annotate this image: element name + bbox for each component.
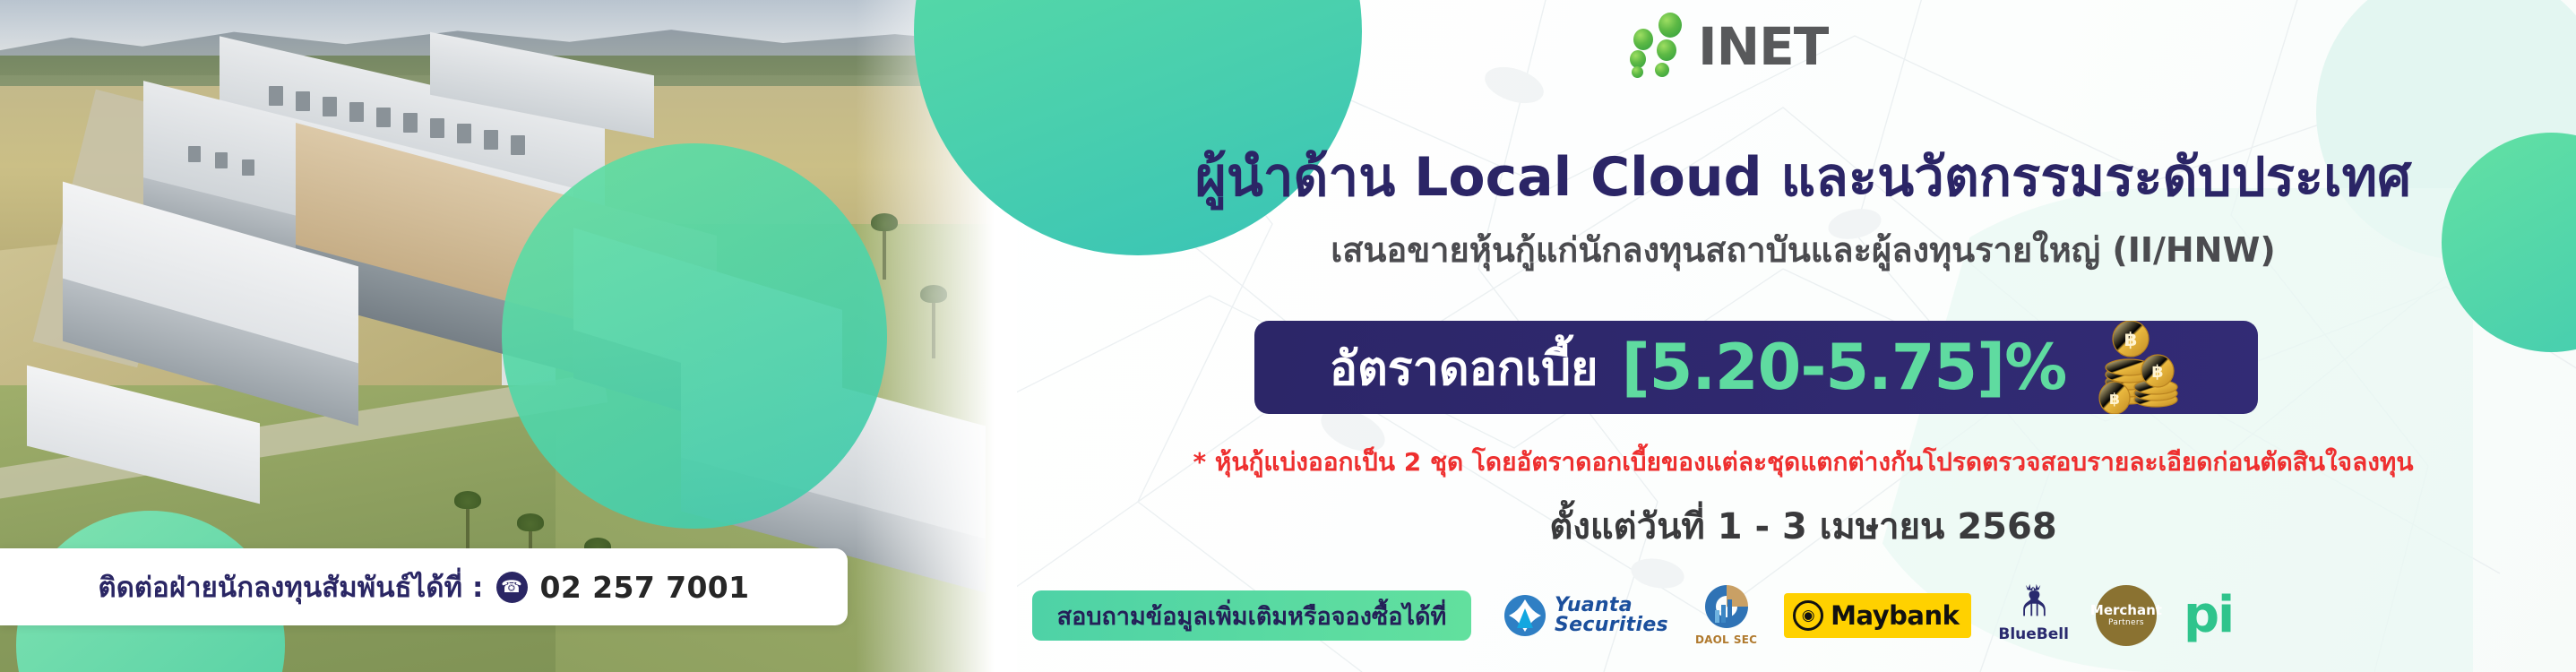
disclaimer-note: * หุ้นกู้แบ่งออกเป็น 2 ชุด โดยอัตราดอกเบ… [1030,443,2576,482]
contact-phone-number: 02 257 7001 [540,570,750,605]
yuanta-star-icon [1503,594,1546,637]
headline: ผู้นำด้าน Local Cloud และนวัตกรรมระดับปร… [1030,134,2576,220]
merchant-line2: Partners [2108,618,2144,627]
interest-rate-box: อัตราดอกเบี้ย [5.20-5.75]% [1254,321,2258,414]
inet-dots-logo-icon [1626,13,1693,72]
inquiry-cta-button[interactable]: สอบถามข้อมูลเพิ่มเติมหรือจองซื้อได้ที่ [1032,590,1471,641]
maybank-tiger-icon: ◉ [1793,600,1823,631]
yuanta-line1: Yuanta [1555,596,1668,616]
bluebell-wordmark: BlueBell [1998,625,2069,643]
partner-logo-maybank[interactable]: ◉ Maybank [1784,583,1971,648]
green-circle-mid-decoration [502,143,887,529]
bottom-row: สอบถามข้อมูลเพิ่มเติมหรือจองซื้อได้ที่ Y… [1030,581,2576,650]
offering-period: ตั้งแต่วันที่ 1 - 3 เมษายน 2568 [1030,497,2576,555]
inet-logo: INET [1626,13,1828,72]
partner-logo-pi[interactable]: pi [2184,583,2233,648]
svg-text:฿: ฿ [2124,329,2138,350]
promotional-banner: ติดต่อฝ่ายนักลงทุนสัมพันธ์ได้ที่ : ☎ 02 … [0,0,2576,672]
partner-logo-daol[interactable]: DAOL SEC [1695,583,1757,648]
partner-logo-bluebell[interactable]: BlueBell [1998,583,2069,648]
daol-line1: DAOL [1695,633,1729,646]
partner-logo-merchant[interactable]: Merchant Partners [2096,583,2157,648]
inet-logo-text: INET [1698,22,1828,72]
partner-logo-yuanta[interactable]: Yuanta Securities [1503,583,1668,648]
phone-icon: ☎ [496,572,528,603]
interest-rate-label: อัตราดอกเบี้ย [1330,331,1598,405]
subheadline: เสนอขายหุ้นกู้แก่นักลงทุนสถาบันและผู้ลงท… [1030,222,2576,277]
daol-wordmark: DAOL SEC [1695,633,1757,647]
gold-coins-icon: ฿ ฿ ฿ [2089,321,2183,414]
interest-rate-value: [5.20-5.75]% [1622,336,2067,399]
yuanta-wordmark: Yuanta Securities [1555,596,1668,635]
daol-line2: SEC [1734,633,1757,646]
svg-text:฿: ฿ [2109,391,2120,409]
maybank-wordmark: Maybank [1831,600,1959,631]
daol-pie-icon [1703,583,1750,630]
bluebell-deer-icon [2016,583,2052,625]
yuanta-line2: Securities [1555,616,1668,635]
merchant-line1: Merchant [2090,604,2162,618]
contact-label: ติดต่อฝ่ายนักลงทุนสัมพันธ์ได้ที่ : [98,564,483,609]
inquiry-cta-label: สอบถามข้อมูลเพิ่มเติมหรือจองซื้อได้ที่ [1057,597,1447,635]
merchant-circle-icon: Merchant Partners [2096,585,2157,646]
svg-text:฿: ฿ [2152,362,2164,382]
pi-wordmark-icon: pi [2184,596,2233,636]
investor-relations-contact[interactable]: ติดต่อฝ่ายนักลงทุนสัมพันธ์ได้ที่ : ☎ 02 … [0,548,848,625]
partner-logos: Yuanta Securities [1503,583,2233,648]
content-column: INET ผู้นำด้าน Local Cloud และนวัตกรรมระ… [1030,0,2576,672]
